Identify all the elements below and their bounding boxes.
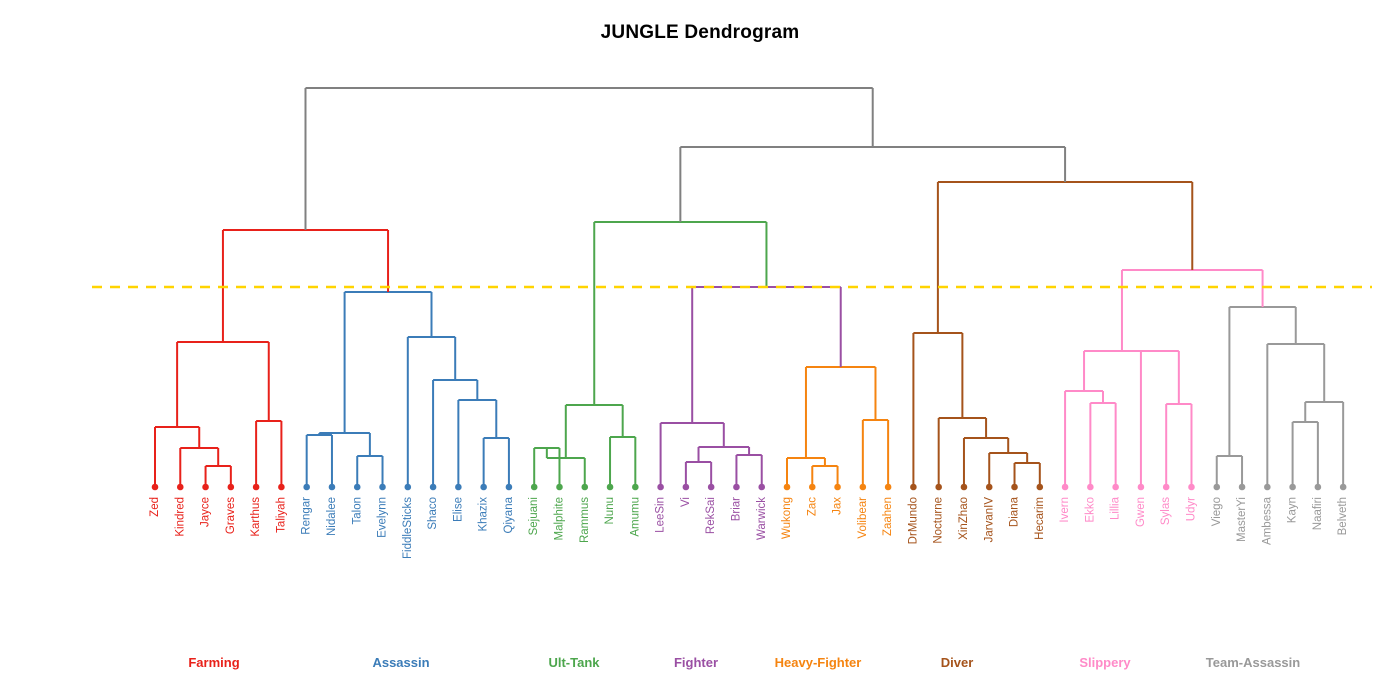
leaf-marker-dot[interactable] — [910, 484, 917, 491]
leaf-marker-dot[interactable] — [152, 484, 159, 491]
leaf-marker-dot[interactable] — [809, 484, 816, 491]
leaf-label[interactable]: MasterYi — [1236, 497, 1248, 542]
leaf-label[interactable]: XinZhao — [958, 497, 970, 540]
leaf-marker-dot[interactable] — [278, 484, 285, 491]
dendrogram-link — [1084, 351, 1160, 391]
leaf-marker-dot[interactable] — [177, 484, 184, 491]
leaf-marker-dot[interactable] — [708, 484, 715, 491]
dendrogram-link — [1229, 307, 1295, 456]
leaf-label[interactable]: Zaahen — [882, 497, 894, 536]
dendrogram-link — [686, 462, 711, 487]
leaf-label[interactable]: Warwick — [756, 497, 768, 540]
dendrogram-link — [610, 437, 635, 487]
dendrogram-link — [812, 466, 837, 487]
leaf-label[interactable]: Naafiri — [1312, 497, 1324, 530]
leaf-label[interactable]: Graves — [225, 497, 237, 534]
leaf-label[interactable]: Karthus — [250, 497, 262, 537]
dendrogram-link — [433, 380, 477, 487]
dendrogram-link — [1122, 270, 1263, 351]
legend-label: Slippery — [1079, 655, 1130, 670]
leaf-marker-dot[interactable] — [607, 484, 614, 491]
leaf-marker-dot[interactable] — [1239, 484, 1246, 491]
leaf-label[interactable]: Rengar — [301, 497, 313, 535]
leaf-marker-dot[interactable] — [860, 484, 867, 491]
leaf-label[interactable]: Talon — [351, 497, 363, 525]
leaf-marker-dot[interactable] — [202, 484, 209, 491]
leaf-marker-dot[interactable] — [329, 484, 336, 491]
dendrogram-link — [155, 427, 199, 487]
leaf-marker-dot[interactable] — [758, 484, 765, 491]
dendrogram-link — [736, 455, 761, 487]
leaf-label[interactable]: Zac — [806, 497, 818, 516]
leaf-marker-dot[interactable] — [531, 484, 538, 491]
leaf-marker-dot[interactable] — [1037, 484, 1044, 491]
legend-label: Diver — [941, 655, 974, 670]
leaf-label[interactable]: Nocturne — [933, 497, 945, 544]
dendrogram-link — [1090, 403, 1115, 487]
leaf-marker-dot[interactable] — [253, 484, 260, 491]
leaf-marker-dot[interactable] — [1188, 484, 1195, 491]
leaf-marker-dot[interactable] — [683, 484, 690, 491]
dendrogram-link — [177, 342, 269, 427]
leaf-marker-dot[interactable] — [354, 484, 361, 491]
leaf-label[interactable]: Qiyana — [503, 496, 515, 533]
leaf-label[interactable]: Wukong — [781, 497, 793, 539]
dendrogram-link — [307, 435, 332, 487]
leaf-label[interactable]: Jayce — [200, 497, 212, 527]
leaf-marker-dot[interactable] — [1315, 484, 1322, 491]
leaf-label[interactable]: Volibear — [857, 497, 869, 539]
dendrogram-link — [305, 88, 872, 230]
leaf-label[interactable]: Evelynn — [377, 497, 389, 538]
dendrogram-link — [1267, 344, 1324, 487]
legend-item-diver[interactable]: Diver — [941, 655, 974, 670]
legend-item-heavy-fighter[interactable]: Heavy-Fighter — [775, 655, 862, 670]
leaf-label[interactable]: Malphite — [554, 497, 566, 540]
leaf-marker-dot[interactable] — [834, 484, 841, 491]
leaf-marker-dot[interactable] — [632, 484, 639, 491]
dendrogram-link — [989, 453, 1027, 487]
dendrogram-link — [1166, 404, 1191, 487]
legend-item-fighter[interactable]: Fighter — [674, 655, 718, 670]
dendrogram-link — [1015, 463, 1040, 487]
leaf-label[interactable]: Sejuani — [528, 497, 540, 535]
leaf-label[interactable]: RekSai — [705, 497, 717, 534]
legend-label: Assassin — [372, 655, 429, 670]
leaf-label[interactable]: Kayn — [1287, 497, 1299, 523]
dendrogram-link — [787, 458, 825, 487]
legend-label: Ult-Tank — [548, 655, 599, 670]
leaf-label[interactable]: Jax — [832, 497, 844, 515]
leaf-label[interactable]: Ambessa — [1261, 496, 1273, 545]
dendrogram-link — [692, 287, 841, 423]
leaf-marker-dot[interactable] — [480, 484, 487, 491]
dendrogram-link — [345, 292, 432, 433]
leaf-label[interactable]: Nidalee — [326, 497, 338, 536]
leaf-label[interactable]: Ekko — [1084, 497, 1096, 523]
cluster-legend: FarmingAssassinUlt-TankFighterHeavy-Figh… — [0, 655, 1400, 685]
leaf-label[interactable]: Shaco — [427, 497, 439, 530]
leaf-marker-dot[interactable] — [556, 484, 563, 491]
leaf-label[interactable]: DrMundo — [907, 497, 919, 544]
leaf-marker-dot[interactable] — [1112, 484, 1119, 491]
leaf-marker-dot[interactable] — [986, 484, 993, 491]
leaf-label[interactable]: Sylas — [1160, 497, 1172, 525]
leaf-marker-dot[interactable] — [228, 484, 235, 491]
dendrogram-link — [939, 418, 986, 487]
leaf-label[interactable]: Udyr — [1186, 497, 1198, 521]
leaf-marker-dot[interactable] — [303, 484, 310, 491]
dendrogram-plot: ZedKindredJayceGravesKarthusTaliyahRenga… — [0, 0, 1400, 700]
leaf-label[interactable]: LeeSin — [655, 497, 667, 533]
dendrogram-link — [180, 448, 218, 487]
dendrogram-link — [357, 456, 382, 487]
leaf-label[interactable]: FiddleSticks — [402, 497, 414, 559]
leaf-label[interactable]: Gwen — [1135, 497, 1147, 527]
leaf-marker-dot[interactable] — [1087, 484, 1094, 491]
dendrogram-link — [594, 222, 766, 405]
leaf-label[interactable]: Diana — [1009, 496, 1021, 527]
legend-item-team-assassin[interactable]: Team-Assassin — [1206, 655, 1300, 670]
leaf-marker-dot[interactable] — [581, 484, 588, 491]
leaf-marker-dot[interactable] — [405, 484, 412, 491]
dendrogram-link — [1305, 402, 1343, 487]
legend-label: Farming — [188, 655, 239, 670]
dendrogram-link — [1065, 391, 1103, 487]
legend-item-slippery[interactable]: Slippery — [1079, 655, 1130, 670]
leaf-labels: ZedKindredJayceGravesKarthusTaliyahRenga… — [149, 496, 1349, 559]
leaf-marker-dot[interactable] — [935, 484, 942, 491]
leaf-marker-dot[interactable] — [430, 484, 437, 491]
leaf-label[interactable]: Amumu — [629, 497, 641, 537]
leaf-label[interactable]: Belveth — [1337, 497, 1349, 535]
dendrogram-link — [408, 337, 455, 487]
dendrogram-link — [319, 433, 370, 456]
dendrogram-link — [806, 367, 876, 458]
leaf-marker-dot[interactable] — [1062, 484, 1069, 491]
dendrogram-link — [680, 147, 1065, 222]
leaf-marker-dot[interactable] — [1213, 484, 1220, 491]
leaf-marker-dot[interactable] — [1289, 484, 1296, 491]
leaf-marker-dot[interactable] — [1011, 484, 1018, 491]
dendrogram-link — [566, 405, 623, 458]
dendrogram-link — [938, 182, 1192, 333]
leaf-label[interactable]: Viego — [1211, 497, 1223, 526]
leaf-label[interactable]: Vi — [680, 497, 692, 507]
leaf-marker-dot[interactable] — [784, 484, 791, 491]
leaf-label[interactable]: Elise — [452, 497, 464, 522]
dendrogram-link — [1217, 456, 1242, 487]
leaf-marker-dot[interactable] — [1264, 484, 1271, 491]
leaf-label[interactable]: Rammus — [579, 497, 591, 543]
dendrogram-link — [484, 438, 509, 487]
leaf-label[interactable]: Kindred — [174, 497, 186, 537]
dendrogram-link — [256, 421, 281, 487]
leaf-marker-dot[interactable] — [733, 484, 740, 491]
dendrogram-link — [964, 438, 1008, 487]
leaf-label[interactable]: Nunu — [604, 497, 616, 525]
dendrogram-link — [661, 423, 724, 487]
leaf-marker-dot[interactable] — [961, 484, 968, 491]
dendrogram-link — [206, 466, 231, 487]
dendrogram-leaves — [152, 484, 1347, 491]
legend-label: Fighter — [674, 655, 718, 670]
leaf-marker-dot[interactable] — [885, 484, 892, 491]
dendrogram-link — [1141, 351, 1179, 487]
leaf-label[interactable]: JarvanIV — [983, 497, 995, 543]
leaf-marker-dot[interactable] — [379, 484, 386, 491]
leaf-label[interactable]: Khazix — [478, 497, 490, 532]
leaf-label[interactable]: Hecarim — [1034, 497, 1046, 540]
legend-item-farming[interactable]: Farming — [188, 655, 239, 670]
leaf-marker-dot[interactable] — [1340, 484, 1347, 491]
leaf-label[interactable]: Lillia — [1110, 496, 1122, 520]
leaf-marker-dot[interactable] — [1138, 484, 1145, 491]
leaf-label[interactable]: Briar — [730, 497, 742, 521]
leaf-label[interactable]: Ivern — [1059, 497, 1071, 523]
leaf-label[interactable]: Taliyah — [275, 497, 287, 533]
legend-label: Team-Assassin — [1206, 655, 1300, 670]
legend-item-assassin[interactable]: Assassin — [372, 655, 429, 670]
leaf-marker-dot[interactable] — [506, 484, 513, 491]
leaf-marker-dot[interactable] — [657, 484, 664, 491]
dendrogram-link — [1293, 422, 1318, 487]
legend-label: Heavy-Fighter — [775, 655, 862, 670]
dendrogram-page: JUNGLE Dendrogram ZedKindredJayceGravesK… — [0, 0, 1400, 700]
dendrogram-link — [863, 420, 888, 487]
leaf-marker-dot[interactable] — [1163, 484, 1170, 491]
leaf-label[interactable]: Zed — [149, 497, 161, 517]
legend-item-ult-tank[interactable]: Ult-Tank — [548, 655, 599, 670]
leaf-marker-dot[interactable] — [455, 484, 462, 491]
dendrogram-link — [458, 400, 496, 487]
